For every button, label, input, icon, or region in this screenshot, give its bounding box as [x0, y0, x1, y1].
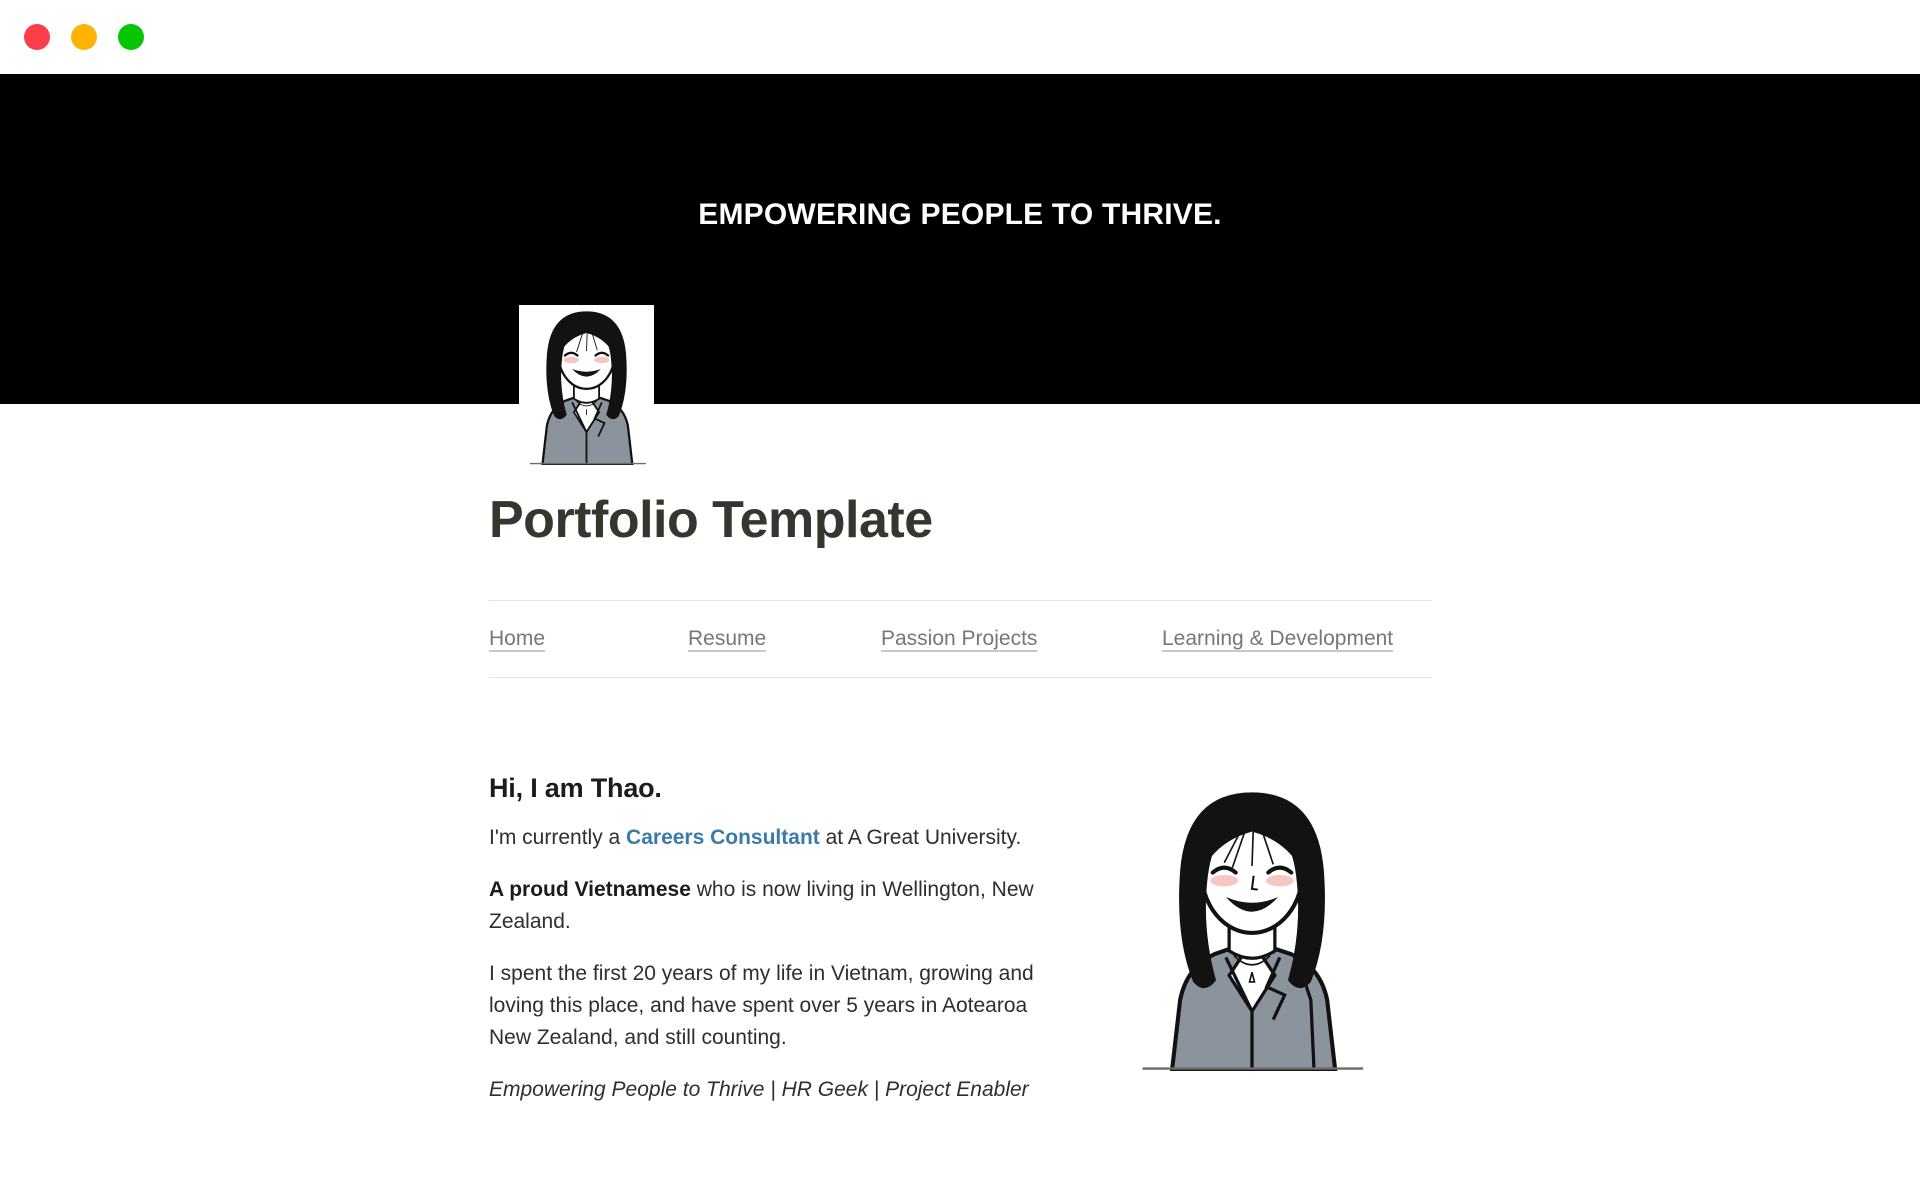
portrait-illustration-icon: [1117, 781, 1387, 1071]
close-window-button[interactable]: [24, 24, 50, 50]
intro-paragraph-origin: A proud Vietnamese who is now living in …: [489, 874, 1034, 938]
intro-section: Hi, I am Thao. I'm currently a Careers C…: [489, 773, 1432, 1126]
intro-origin-bold: A proud Vietnamese: [489, 878, 691, 901]
intro-tagline: Empowering People to Thrive | HR Geek | …: [489, 1074, 1034, 1106]
traffic-light-group: [24, 24, 144, 50]
intro-paragraph-role: I'm currently a Careers Consultant at A …: [489, 822, 1034, 854]
main-navigation: Home Resume Passion Projects Learning & …: [489, 601, 1432, 677]
avatar: [519, 305, 654, 465]
nav-item-passion-projects[interactable]: Passion Projects: [881, 627, 1162, 651]
intro-role-prefix: I'm currently a: [489, 826, 626, 849]
intro-role-suffix: at A Great University.: [820, 826, 1022, 849]
nav-item-resume[interactable]: Resume: [688, 627, 881, 651]
intro-heading: Hi, I am Thao.: [489, 773, 1034, 804]
nav-item-learning-development[interactable]: Learning & Development: [1162, 627, 1393, 651]
browser-window-chrome: [0, 0, 1920, 74]
minimize-window-button[interactable]: [71, 24, 97, 50]
page-content-column: Portfolio Template Home Resume Passion P…: [489, 404, 1432, 1126]
avatar-portrait-icon: [519, 305, 654, 465]
page-title: Portfolio Template: [489, 490, 1432, 550]
hero-tagline: EMPOWERING PEOPLE TO THRIVE.: [0, 198, 1920, 232]
intro-paragraph-story: I spent the first 20 years of my life in…: [489, 958, 1034, 1054]
hero-banner: EMPOWERING PEOPLE TO THRIVE.: [0, 74, 1920, 404]
intro-illustration: [1082, 773, 1422, 1126]
nav-item-home[interactable]: Home: [489, 627, 688, 651]
maximize-window-button[interactable]: [118, 24, 144, 50]
careers-consultant-link[interactable]: Careers Consultant: [626, 826, 820, 849]
nav-divider-bottom: [489, 677, 1432, 678]
intro-text-block: Hi, I am Thao. I'm currently a Careers C…: [489, 773, 1034, 1126]
